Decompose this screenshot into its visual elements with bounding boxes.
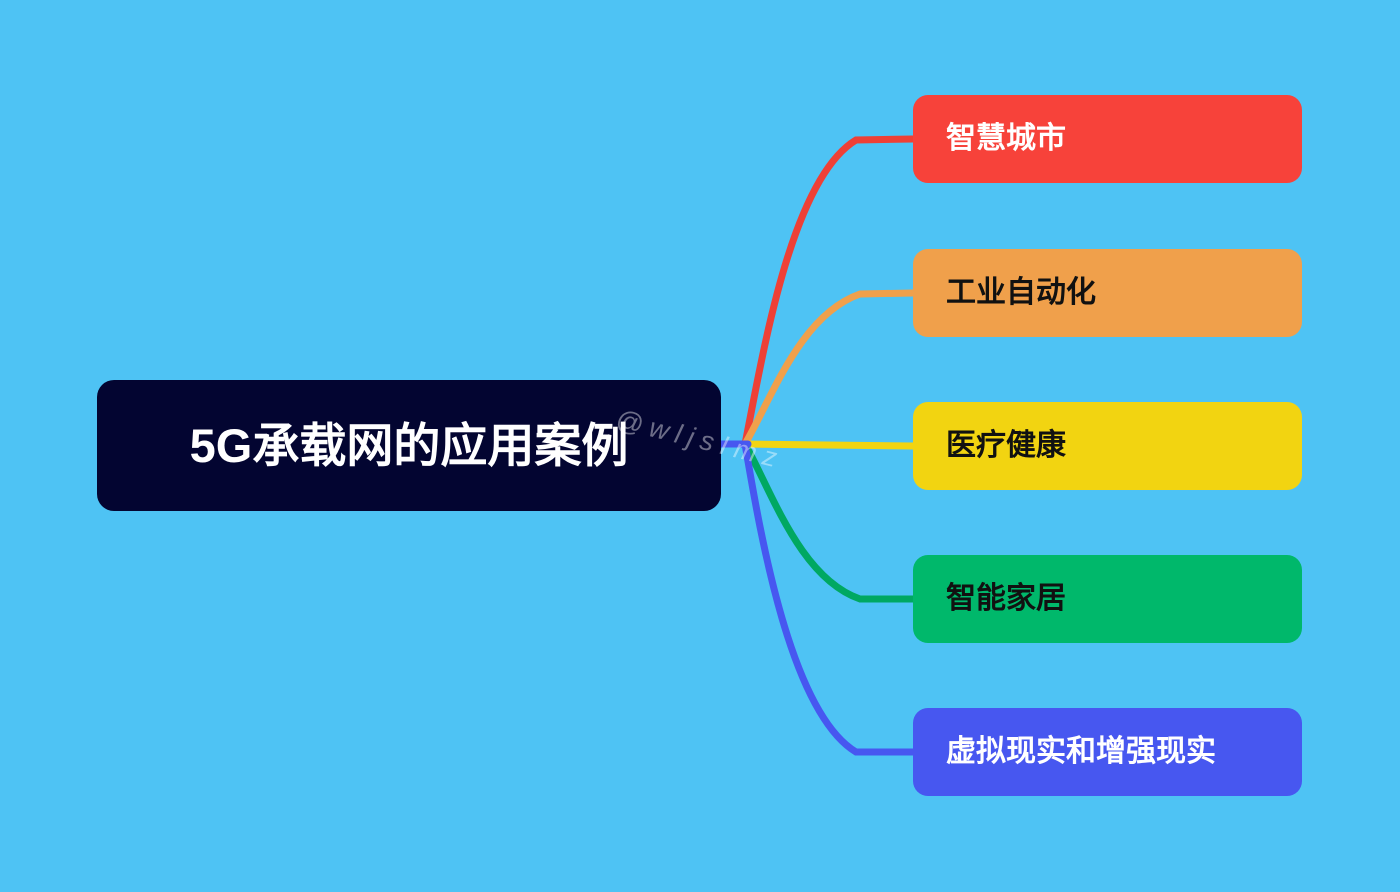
branch-node-vr-ar[interactable]: 虚拟现实和增强现实: [913, 708, 1302, 796]
branch-node-label: 虚拟现实和增强现实: [913, 737, 1216, 767]
branch-node-smart-home[interactable]: 智能家居: [913, 555, 1302, 643]
branch-node-smart-city[interactable]: 智慧城市: [913, 95, 1302, 183]
root-node[interactable]: 5G承载网的应用案例: [97, 380, 721, 511]
branch-node-label: 工业自动化: [913, 278, 1096, 308]
connector-line-4: [745, 444, 913, 752]
branch-node-label: 智能家居: [913, 584, 1066, 614]
root-node-label: 5G承载网的应用案例: [190, 422, 629, 469]
connector-line-0: [745, 139, 913, 444]
branch-node-medical-health[interactable]: 医疗健康: [913, 402, 1302, 490]
branch-node-label: 智慧城市: [913, 124, 1066, 154]
mindmap-canvas: 5G承载网的应用案例 @wljsImz 智慧城市 工业自动化 医疗健康 智能家居…: [0, 0, 1400, 892]
connector-line-1: [745, 293, 913, 444]
branch-node-industrial-automation[interactable]: 工业自动化: [913, 249, 1302, 337]
branch-node-label: 医疗健康: [913, 431, 1066, 461]
